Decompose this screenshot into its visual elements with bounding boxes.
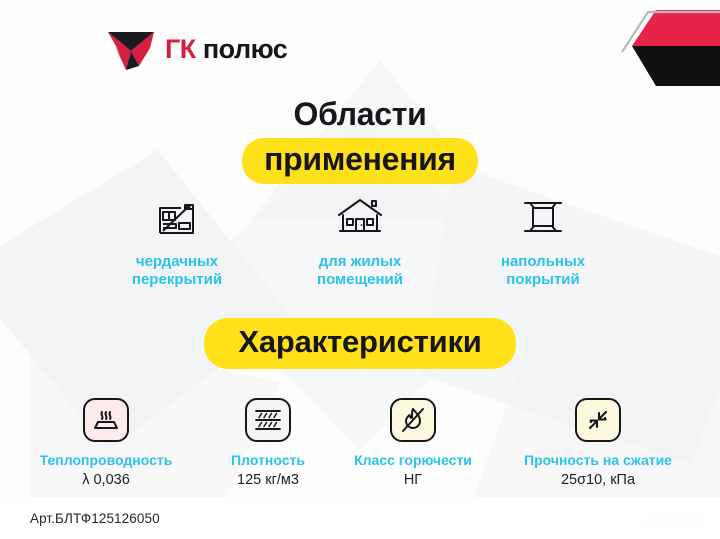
application-label-flooring: напольных покрытий [458,253,628,290]
brand-logo-text: ГК полюс [165,36,287,63]
characteristic-title-thermal: Теплопроводность [22,452,190,469]
applications-title-line1: Области [0,98,720,132]
characteristic-item-density: Плотность 125 кг/м3 [208,398,328,489]
brand-name-gk: ГК [165,34,196,64]
density-icon [245,398,291,442]
product-infographic-card: ГК полюс Области применения [0,0,720,539]
application-item-residential: для жилых помещений [275,192,445,290]
avito-watermark-text: Avito [643,508,702,533]
polus-diamond-logo-icon [106,26,156,72]
attic-floor-icon [92,192,262,242]
application-item-flooring: напольных покрытий [458,192,628,290]
characteristic-value-thermal: λ 0,036 [22,471,190,489]
house-icon [275,192,445,242]
brand-name-polus: полюс [203,34,288,64]
applications-heading: Области применения [0,98,720,184]
characteristic-item-thermal: Теплопроводность λ 0,036 [22,398,190,489]
application-item-attic: чердачных перекрытий [92,192,262,290]
article-number: Арт.БЛТФ125126050 [30,511,160,526]
characteristics-list: Теплопроводность λ 0,036 [22,398,698,489]
avito-logo-icon [614,509,640,533]
brand-logo: ГК полюс [106,26,287,72]
fire-resistance-icon [390,398,436,442]
characteristic-title-compression: Прочность на сжатие [498,452,698,469]
characteristic-item-fire: Класс горючести НГ [346,398,480,489]
characteristics-heading: Характеристики [0,318,720,369]
corner-ribbon-decoration-icon [600,0,720,92]
characteristic-value-density: 125 кг/м3 [208,471,328,489]
characteristic-item-compression: Прочность на сжатие 25σ10, кПа [498,398,698,489]
application-label-attic: чердачных перекрытий [92,253,262,290]
compression-strength-icon [575,398,621,442]
characteristic-value-compression: 25σ10, кПа [498,471,698,489]
floor-covering-icon [458,192,628,242]
footer-bar: Арт.БЛТФ125126050 Avito [0,497,720,539]
characteristics-title-pill: Характеристики [204,318,515,369]
characteristic-value-fire: НГ [346,471,480,489]
applications-list: чердачных перекрытий [92,192,628,290]
application-label-residential: для жилых помещений [275,253,445,290]
avito-watermark: Avito [614,508,702,533]
applications-title-pill: применения [242,138,478,185]
characteristic-title-fire: Класс горючести [346,452,480,469]
thermal-conductivity-icon [83,398,129,442]
characteristic-title-density: Плотность [208,452,328,469]
